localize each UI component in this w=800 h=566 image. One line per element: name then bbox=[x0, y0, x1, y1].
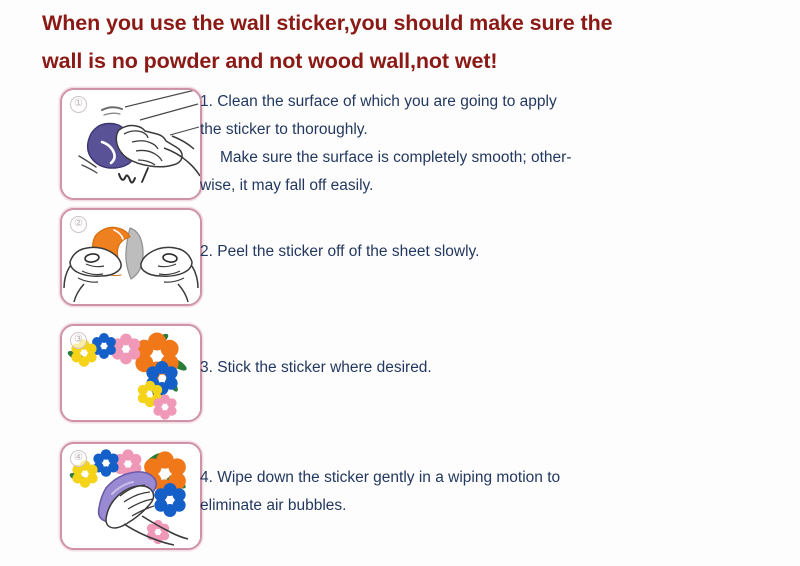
step-2-line-1: 2. Peel the sticker off of the sheet slo… bbox=[200, 238, 479, 266]
step-1-line-2: the sticker to thoroughly. bbox=[200, 116, 571, 144]
panel-wipe-sticker: ④ bbox=[60, 442, 202, 550]
heading-line-2: wall is no powder and not wood wall,not … bbox=[42, 42, 762, 80]
heading-line-1: When you use the wall sticker,you should… bbox=[42, 4, 762, 42]
step-4-line-2: eliminate air bubbles. bbox=[200, 492, 560, 520]
step-badge-2: ② bbox=[70, 216, 87, 233]
panel-peel-sticker: ② bbox=[60, 208, 202, 306]
step-badge-4: ④ bbox=[70, 450, 87, 467]
step-text-1: 1. Clean the surface of which you are go… bbox=[200, 88, 571, 200]
step-3-line-1: 3. Stick the sticker where desired. bbox=[200, 354, 432, 382]
step-1-line-1: 1. Clean the surface of which you are go… bbox=[200, 88, 571, 116]
step-1-line-4: wise, it may fall off easily. bbox=[200, 172, 571, 200]
step-badge-1: ① bbox=[70, 96, 87, 113]
step-badge-3: ③ bbox=[70, 332, 87, 349]
step-text-2: 2. Peel the sticker off of the sheet slo… bbox=[200, 238, 479, 266]
step-text-4: 4. Wipe down the sticker gently in a wip… bbox=[200, 464, 560, 520]
step-text-3: 3. Stick the sticker where desired. bbox=[200, 354, 432, 382]
instruction-heading: When you use the wall sticker,you should… bbox=[42, 4, 762, 80]
step-4-line-1: 4. Wipe down the sticker gently in a wip… bbox=[200, 464, 560, 492]
panel-clean-surface: ① bbox=[60, 88, 202, 200]
step-1-line-3-text: Make sure the surface is completely smoo… bbox=[220, 149, 571, 166]
step-1-line-3: Make sure the surface is completely smoo… bbox=[200, 144, 571, 172]
panel-stick-sticker: ③ bbox=[60, 324, 202, 422]
